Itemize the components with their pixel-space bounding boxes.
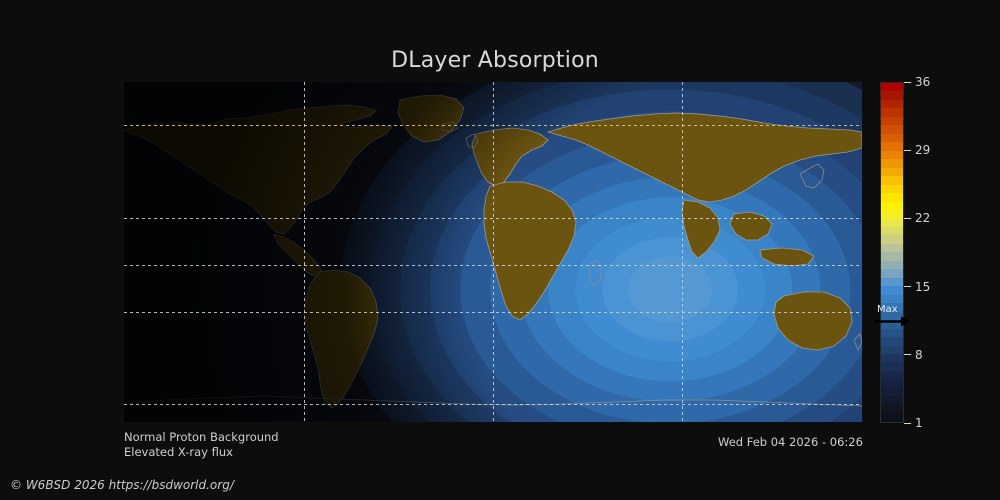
colorbar-tick: 15	[904, 280, 930, 294]
colorbar-segment	[881, 193, 903, 201]
colorbar-tick-mark	[904, 150, 911, 151]
colorbar-segment	[881, 269, 903, 277]
colorbar-segment	[881, 405, 903, 413]
colorbar-tick-mark	[904, 218, 911, 219]
colorbar[interactable]	[880, 82, 904, 423]
note-xray-flux: Elevated X-ray flux	[124, 445, 233, 459]
colorbar-tick: 29	[904, 143, 930, 157]
colorbar-segment	[881, 413, 903, 421]
colorbar-segment	[881, 91, 903, 99]
note-proton-background: Normal Proton Background	[124, 430, 279, 444]
colorbar-segment	[881, 83, 903, 91]
colorbar-segment	[881, 244, 903, 252]
colorbar-tick-label: 8	[915, 348, 923, 362]
colorbar-tick-mark	[904, 354, 911, 355]
colorbar-segment	[881, 151, 903, 159]
colorbar-segment	[881, 176, 903, 184]
colorbar-segment	[881, 202, 903, 210]
colorbar-segment	[881, 252, 903, 260]
colorbar-segment	[881, 117, 903, 125]
colorbar-segment	[881, 278, 903, 286]
colorbar-tick-mark	[904, 423, 911, 424]
colorbar-tick: 1	[904, 416, 923, 430]
colorbar-segment	[881, 362, 903, 370]
page-title: DLayer Absorption	[0, 48, 990, 73]
colorbar-tick-label: 29	[915, 143, 930, 157]
colorbar-segment	[881, 159, 903, 167]
colorbar-segment	[881, 142, 903, 150]
world-map[interactable]	[124, 82, 862, 422]
colorbar-segment	[881, 346, 903, 354]
colorbar-segment	[881, 286, 903, 294]
colorbar-tick: 8	[904, 348, 923, 362]
colorbar-segment	[881, 108, 903, 116]
colorbar-segment	[881, 134, 903, 142]
colorbar-segment	[881, 235, 903, 243]
max-arrow-icon	[873, 315, 913, 328]
colorbar-tick-mark	[904, 82, 911, 83]
colorbar-max-marker: Max	[873, 304, 913, 330]
colorbar-segment	[881, 185, 903, 193]
colorbar-axis-label: Affected Frequency (MHz)	[931, 82, 1000, 423]
colorbar-tick-label: 22	[915, 211, 930, 225]
colorbar-tick-mark	[904, 286, 911, 287]
colorbar-segment	[881, 295, 903, 303]
colorbar-segment	[881, 354, 903, 362]
colorbar-tick-label: 1	[915, 416, 923, 430]
colorbar-segment	[881, 100, 903, 108]
continents-layer	[124, 82, 862, 422]
colorbar-tick-label: 36	[915, 75, 930, 89]
colorbar-segment	[881, 227, 903, 235]
colorbar-segment	[881, 219, 903, 227]
colorbar-tick-label: 15	[915, 280, 930, 294]
colorbar-segment	[881, 379, 903, 387]
colorbar-segment	[881, 371, 903, 379]
colorbar-segment	[881, 168, 903, 176]
dlayer-absorption-page: DLayer Absorption	[0, 0, 1000, 500]
colorbar-tick: 22	[904, 211, 930, 225]
colorbar-segment	[881, 388, 903, 396]
colorbar-max-label: Max	[873, 304, 913, 315]
colorbar-tick: 36	[904, 75, 930, 89]
colorbar-segment	[881, 396, 903, 404]
colorbar-segment	[881, 261, 903, 269]
credit-line: © W6BSD 2026 https://bsdworld.org/	[10, 478, 234, 492]
colorbar-segment	[881, 125, 903, 133]
timestamp: Wed Feb 04 2026 - 06:26	[718, 435, 863, 449]
colorbar-segment	[881, 210, 903, 218]
colorbar-segment	[881, 337, 903, 345]
